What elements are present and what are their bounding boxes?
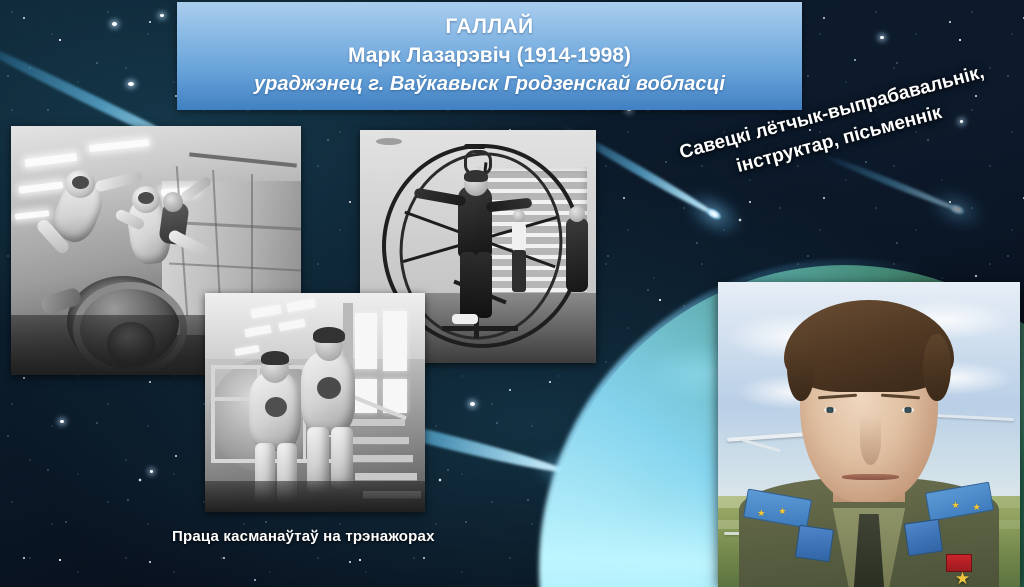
bright-star (160, 14, 164, 17)
bright-star (128, 82, 134, 86)
photo-caption: Праца касманаўтаў на трэнажорах (172, 528, 435, 545)
bright-star (60, 420, 64, 423)
photo-cosmonauts-content (205, 293, 425, 512)
bright-star (960, 120, 963, 123)
title-birthplace: ураджэнец г. Ваўкавыск Гродзенскай вобла… (254, 73, 725, 97)
presentation-slide: ★ ★ ★ ★ ★ ГАЛЛАЙ Марк Лазарэвіч (1914-19… (0, 0, 1024, 587)
bright-star (112, 22, 117, 26)
bright-star (150, 470, 153, 473)
bright-star (880, 36, 884, 39)
title-banner: ГАЛЛАЙ Марк Лазарэвіч (1914-1998) ураджэ… (177, 2, 802, 110)
photo-portrait-gallai[interactable]: ★ ★ ★ ★ ★ (718, 282, 1020, 587)
title-name-and-years: Марк Лазарэвіч (1914-1998) (348, 44, 631, 69)
bright-star (470, 402, 475, 406)
title-surname: ГАЛЛАЙ (445, 15, 533, 40)
photo-cosmonauts-on-stairs[interactable] (205, 293, 425, 512)
portrait-content: ★ ★ ★ ★ ★ (718, 282, 1020, 587)
